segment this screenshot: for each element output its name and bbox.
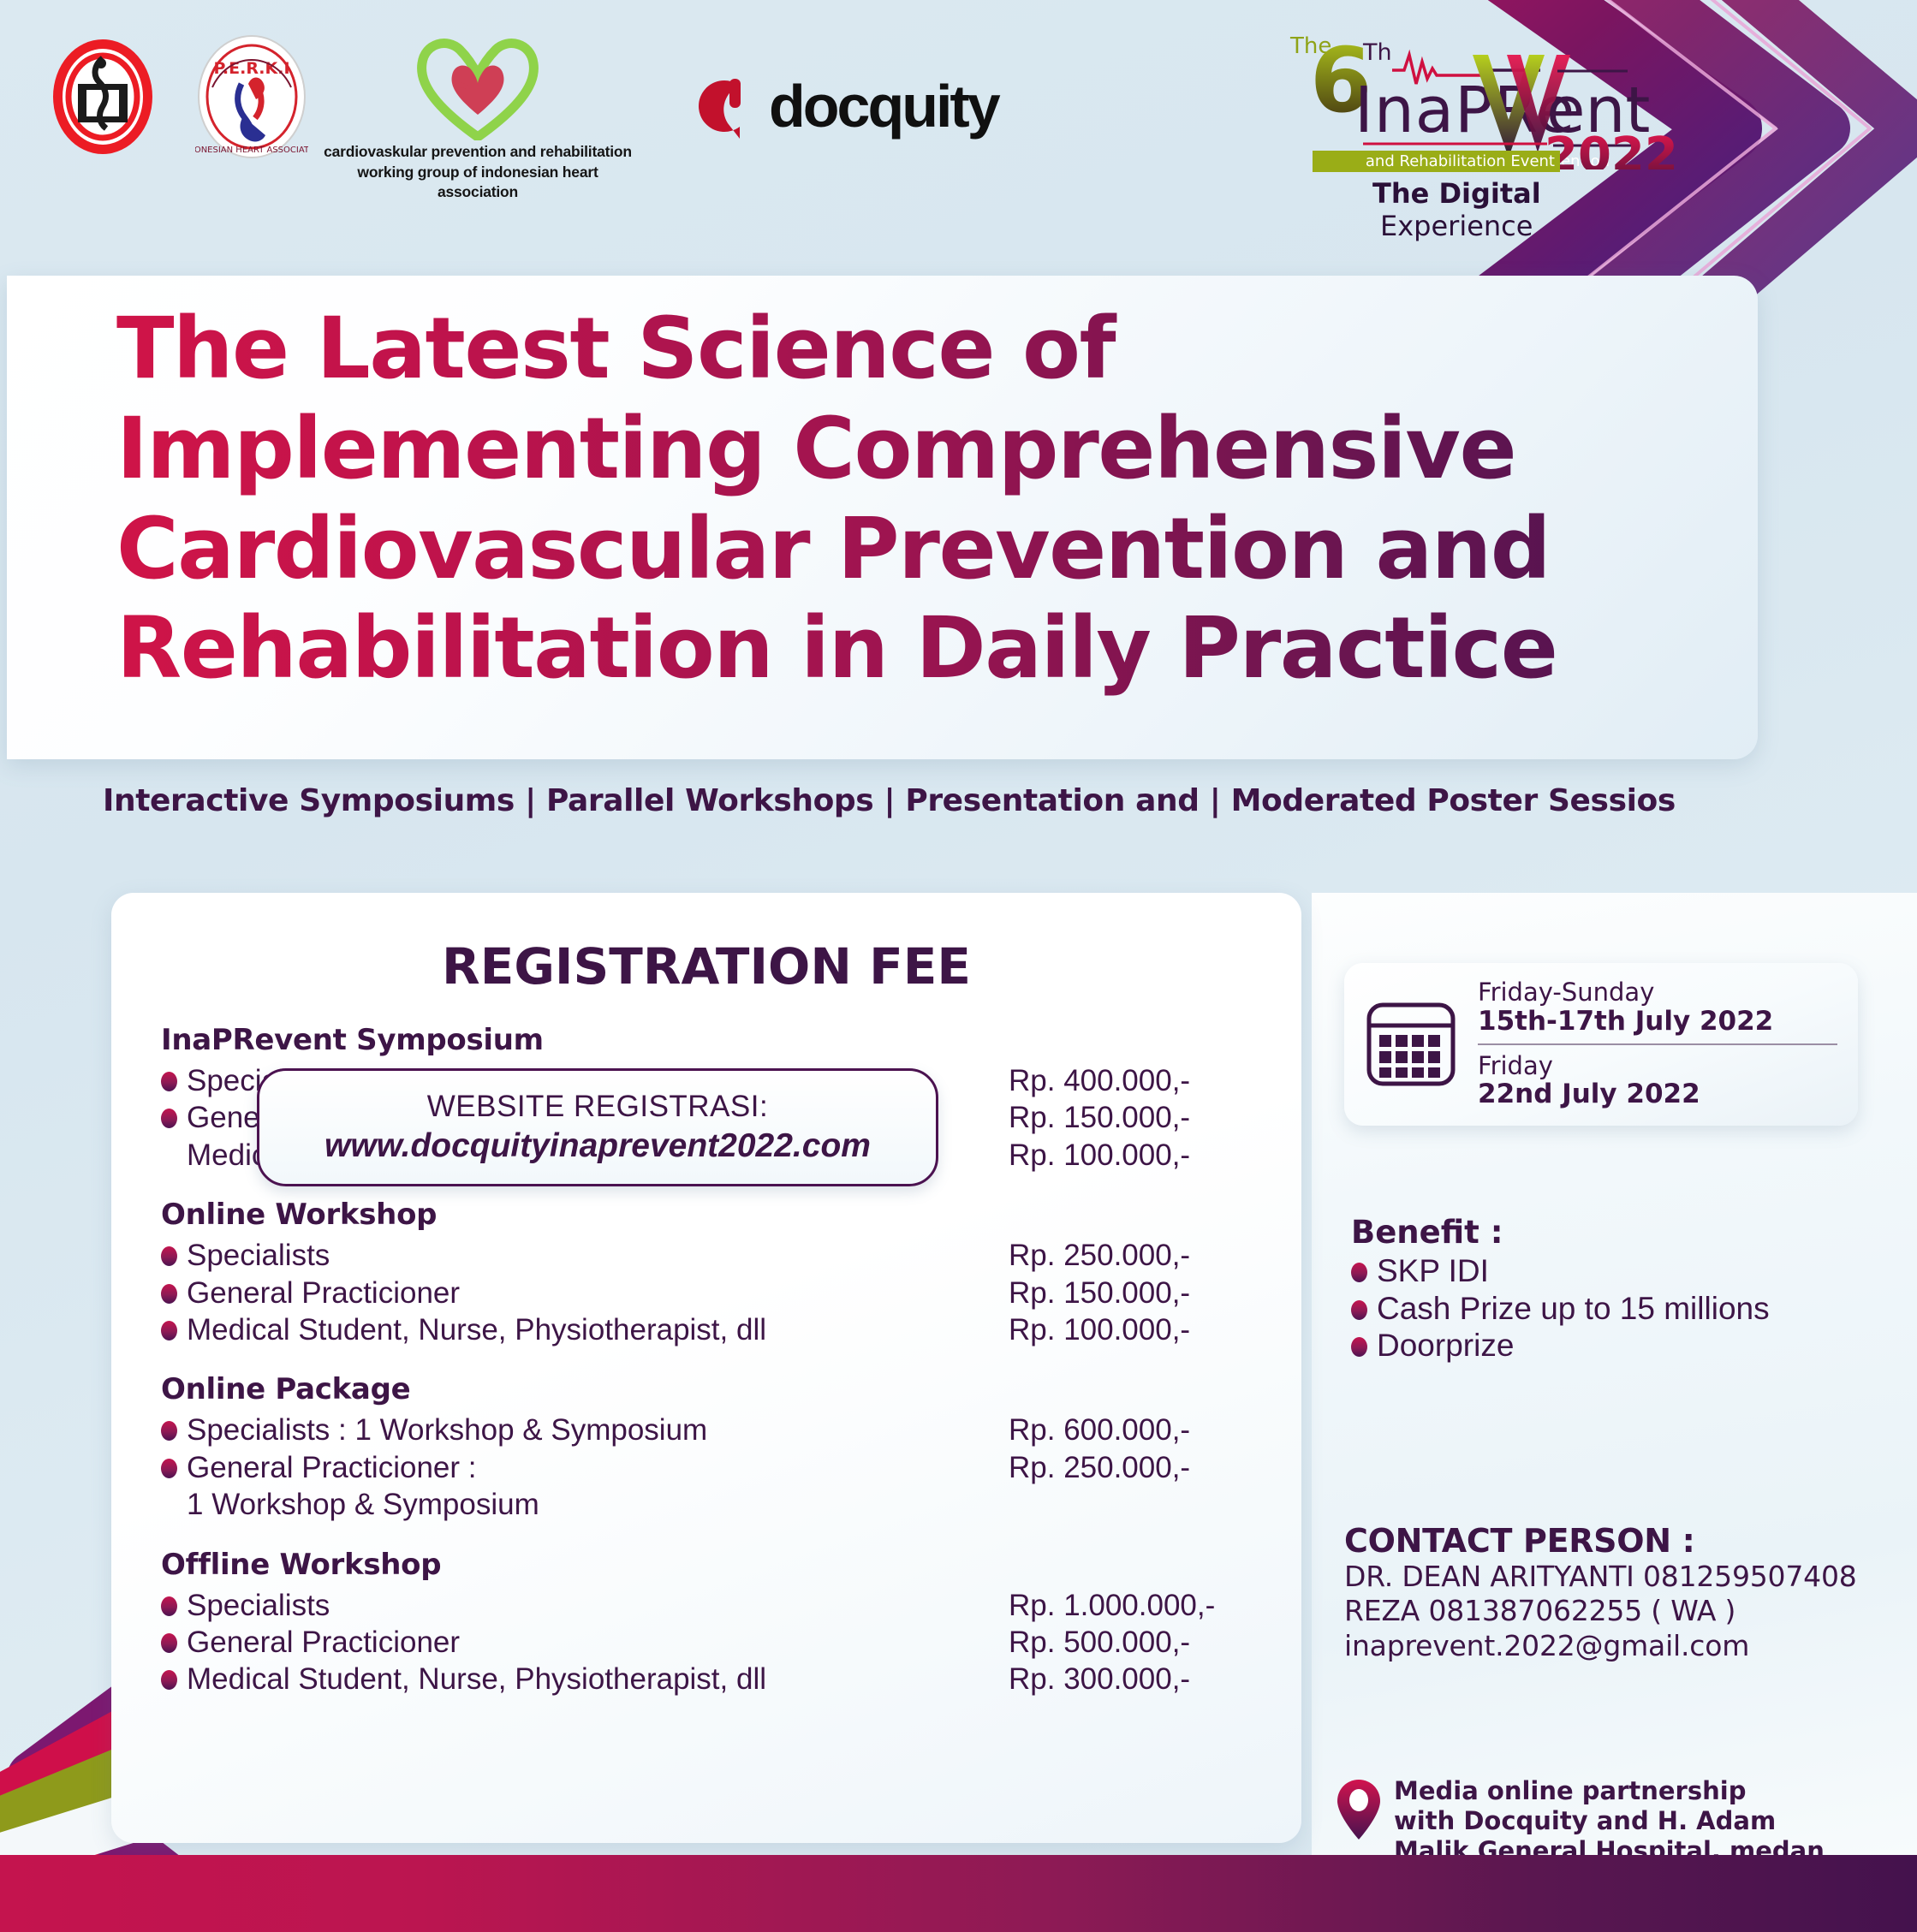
fee-price: Rp. 600.000,- bbox=[1009, 1412, 1265, 1448]
bullet-icon bbox=[161, 1670, 177, 1690]
fee-price: Rp. 250.000,- bbox=[1009, 1237, 1265, 1274]
benefit-item: Cash Prize up to 15 millions bbox=[1351, 1290, 1770, 1328]
bullet-icon bbox=[161, 1109, 177, 1128]
fee-group-title: Online Package bbox=[161, 1372, 1265, 1406]
title-line-2: Implementing Comprehensive bbox=[116, 400, 1726, 500]
event-logo-lower: and Rehabilitation Event The Digital Exp… bbox=[1261, 151, 1706, 242]
fee-row: SpecialistsRp. 250.000,- bbox=[161, 1237, 1265, 1274]
title-line-3: Cardiovascular Prevention and bbox=[116, 500, 1726, 600]
calendar-icon bbox=[1365, 1000, 1457, 1089]
fee-label: General Practicioner : bbox=[187, 1449, 1009, 1486]
fee-group: Offline WorkshopSpecialistsRp. 1.000.000… bbox=[161, 1548, 1265, 1698]
media-line-1: Media online partnership bbox=[1394, 1776, 1825, 1806]
bullet-icon bbox=[161, 1321, 177, 1341]
fee-label: Specialists bbox=[187, 1587, 1009, 1624]
media-line-2: with Docquity and H. Adam bbox=[1394, 1806, 1825, 1836]
cvpr-logo-block: cardiovaskular prevention and rehabilita… bbox=[324, 36, 632, 203]
partner-logo-row: P.E.R.K.I INDONESIAN HEART ASSOCIATION c… bbox=[51, 29, 998, 203]
media-partnership-text: Media online partnership with Docquity a… bbox=[1394, 1776, 1825, 1865]
inaprevent-event-logo: The 6 Th InaPRe ent Indonesian Cardiovas… bbox=[1262, 24, 1707, 169]
subtitle: Interactive Symposiums | Parallel Worksh… bbox=[103, 783, 1676, 818]
website-url[interactable]: www.docquityinaprevent2022.com bbox=[324, 1127, 871, 1165]
date-range-date: 15th-17th July 2022 bbox=[1478, 1007, 1837, 1037]
event-logo-experience: Experience bbox=[1380, 210, 1533, 242]
fee-price: Rp. 250.000,- bbox=[1009, 1449, 1265, 1486]
website-registration-box[interactable]: WEBSITE REGISTRASI: www.docquityinapreve… bbox=[257, 1068, 938, 1186]
date-single-date: 22nd July 2022 bbox=[1478, 1079, 1837, 1110]
fee-label: Specialists : 1 Workshop & Symposium bbox=[187, 1412, 1009, 1448]
fee-row: Medical Student, Nurse, Physiotherapist,… bbox=[161, 1311, 1265, 1348]
bullet-icon bbox=[1351, 1300, 1367, 1320]
contact-line-2[interactable]: REZA 081387062255 ( WA ) bbox=[1344, 1594, 1857, 1628]
fee-group: Online PackageSpecialists : 1 Workshop &… bbox=[161, 1372, 1265, 1523]
benefit-item: Doorprize bbox=[1351, 1327, 1770, 1364]
contact-section: CONTACT PERSON : DR. DEAN ARITYANTI 0812… bbox=[1344, 1522, 1857, 1663]
bullet-icon bbox=[161, 1246, 177, 1266]
bullet-icon bbox=[161, 1421, 177, 1441]
perki-logo-icon: P.E.R.K.I INDONESIAN HEART ASSOCIATION bbox=[195, 34, 308, 159]
fee-label: Specialists bbox=[187, 1237, 1009, 1274]
contact-line-1[interactable]: DR. DEAN ARITYANTI 081259507408 bbox=[1344, 1560, 1857, 1594]
fee-price: Rp. 150.000,- bbox=[1009, 1099, 1265, 1136]
fee-label: Medical Student, Nurse, Physiotherapist,… bbox=[187, 1311, 1009, 1348]
registration-heading: REGISTRATION FEE bbox=[111, 937, 1301, 996]
fee-row: General Practicioner :Rp. 250.000,- bbox=[161, 1449, 1265, 1486]
fee-row: 1 Workshop & Symposium bbox=[161, 1486, 1265, 1523]
event-logo-ordinal: Th bbox=[1362, 39, 1392, 66]
benefit-list: SKP IDICash Prize up to 15 millionsDoorp… bbox=[1351, 1252, 1770, 1364]
docquity-wordmark: docquity bbox=[769, 72, 998, 140]
page-title: The Latest Science of Implementing Compr… bbox=[116, 300, 1726, 699]
event-logo-tagline2: and Rehabilitation Event bbox=[1313, 151, 1560, 172]
title-line-1: The Latest Science of bbox=[116, 300, 1726, 400]
benefit-heading: Benefit : bbox=[1351, 1214, 1770, 1251]
fee-row: SpecialistsRp. 1.000.000,- bbox=[161, 1587, 1265, 1624]
bullet-icon bbox=[161, 1596, 177, 1616]
fee-row: General PracticionerRp. 500.000,- bbox=[161, 1624, 1265, 1661]
event-logo-digital: The Digital bbox=[1372, 177, 1541, 210]
svg-text:INDONESIAN HEART ASSOCIATION: INDONESIAN HEART ASSOCIATION bbox=[195, 146, 308, 155]
fee-row: General PracticionerRp. 150.000,- bbox=[161, 1275, 1265, 1311]
fee-row: Medical Student, Nurse, Physiotherapist,… bbox=[161, 1661, 1265, 1697]
fee-price: Rp. 100.000,- bbox=[1009, 1137, 1265, 1174]
date-range-days: Friday-Sunday bbox=[1478, 978, 1837, 1006]
bullet-icon bbox=[161, 1284, 177, 1304]
bullet-icon bbox=[1351, 1263, 1367, 1282]
benefit-section: Benefit : SKP IDICash Prize up to 15 mil… bbox=[1351, 1214, 1770, 1364]
date-card: Friday-Sunday 15th-17th July 2022 Friday… bbox=[1344, 963, 1858, 1126]
contact-heading: CONTACT PERSON : bbox=[1344, 1522, 1857, 1560]
fee-price: Rp. 150.000,- bbox=[1009, 1275, 1265, 1311]
title-line-4: Rehabilitation in Daily Practice bbox=[116, 599, 1726, 699]
bullet-icon bbox=[161, 1633, 177, 1653]
poster-header: P.E.R.K.I INDONESIAN HEART ASSOCIATION c… bbox=[0, 0, 1917, 235]
cvpr-caption-line1: cardiovaskular prevention and rehabilita… bbox=[324, 143, 632, 160]
website-label: WEBSITE REGISTRASI: bbox=[427, 1090, 768, 1124]
benefit-item-label: Doorprize bbox=[1377, 1327, 1514, 1364]
fee-label: General Practicioner bbox=[187, 1275, 1009, 1311]
fee-label: General Practicioner bbox=[187, 1624, 1009, 1661]
docquity-mark-icon bbox=[692, 74, 757, 139]
benefit-item-label: SKP IDI bbox=[1377, 1252, 1489, 1290]
cvpr-caption-line2: working group of indonesian heart associ… bbox=[357, 163, 598, 201]
bottom-gradient-bar bbox=[0, 1855, 1917, 1932]
date-single-day: Friday bbox=[1478, 1052, 1837, 1079]
docquity-logo: docquity bbox=[692, 72, 998, 140]
svg-text:P.E.R.K.I: P.E.R.K.I bbox=[213, 59, 289, 78]
benefit-item-label: Cash Prize up to 15 millions bbox=[1377, 1290, 1770, 1328]
date-text: Friday-Sunday 15th-17th July 2022 Friday… bbox=[1478, 978, 1837, 1110]
benefit-item: SKP IDI bbox=[1351, 1252, 1770, 1290]
fee-group: Online WorkshopSpecialistsRp. 250.000,-G… bbox=[161, 1198, 1265, 1348]
cvpr-heart-icon bbox=[414, 36, 542, 140]
contact-email[interactable]: inaprevent.2022@gmail.com bbox=[1344, 1629, 1857, 1663]
fee-group-title: Online Workshop bbox=[161, 1198, 1265, 1232]
idi-logo-icon bbox=[51, 38, 154, 156]
cvpr-caption: cardiovaskular prevention and rehabilita… bbox=[324, 142, 632, 203]
fee-group-title: Offline Workshop bbox=[161, 1548, 1265, 1582]
fee-price: Rp. 500.000,- bbox=[1009, 1624, 1265, 1661]
date-divider bbox=[1478, 1043, 1837, 1045]
media-partnership-section: Media online partnership with Docquity a… bbox=[1336, 1776, 1825, 1865]
bullet-icon bbox=[161, 1072, 177, 1091]
fee-row: Specialists : 1 Workshop & SymposiumRp. … bbox=[161, 1412, 1265, 1448]
fee-label: 1 Workshop & Symposium bbox=[187, 1486, 1009, 1523]
bullet-icon bbox=[1351, 1337, 1367, 1357]
registration-card: REGISTRATION FEE InaPRevent SymposiumSpe… bbox=[111, 893, 1301, 1843]
title-card: The Latest Science of Implementing Compr… bbox=[7, 276, 1758, 759]
fee-group-title: InaPRevent Symposium bbox=[161, 1023, 1265, 1057]
fee-label: Medical Student, Nurse, Physiotherapist,… bbox=[187, 1661, 1009, 1697]
bullet-icon bbox=[161, 1459, 177, 1478]
fee-price: Rp. 400.000,- bbox=[1009, 1062, 1265, 1099]
fee-price: Rp. 1.000.000,- bbox=[1009, 1587, 1265, 1624]
location-pin-icon bbox=[1336, 1778, 1382, 1841]
fee-price: Rp. 300.000,- bbox=[1009, 1661, 1265, 1697]
poster-root: P.E.R.K.I INDONESIAN HEART ASSOCIATION c… bbox=[0, 0, 1917, 1932]
fee-price: Rp. 100.000,- bbox=[1009, 1311, 1265, 1348]
